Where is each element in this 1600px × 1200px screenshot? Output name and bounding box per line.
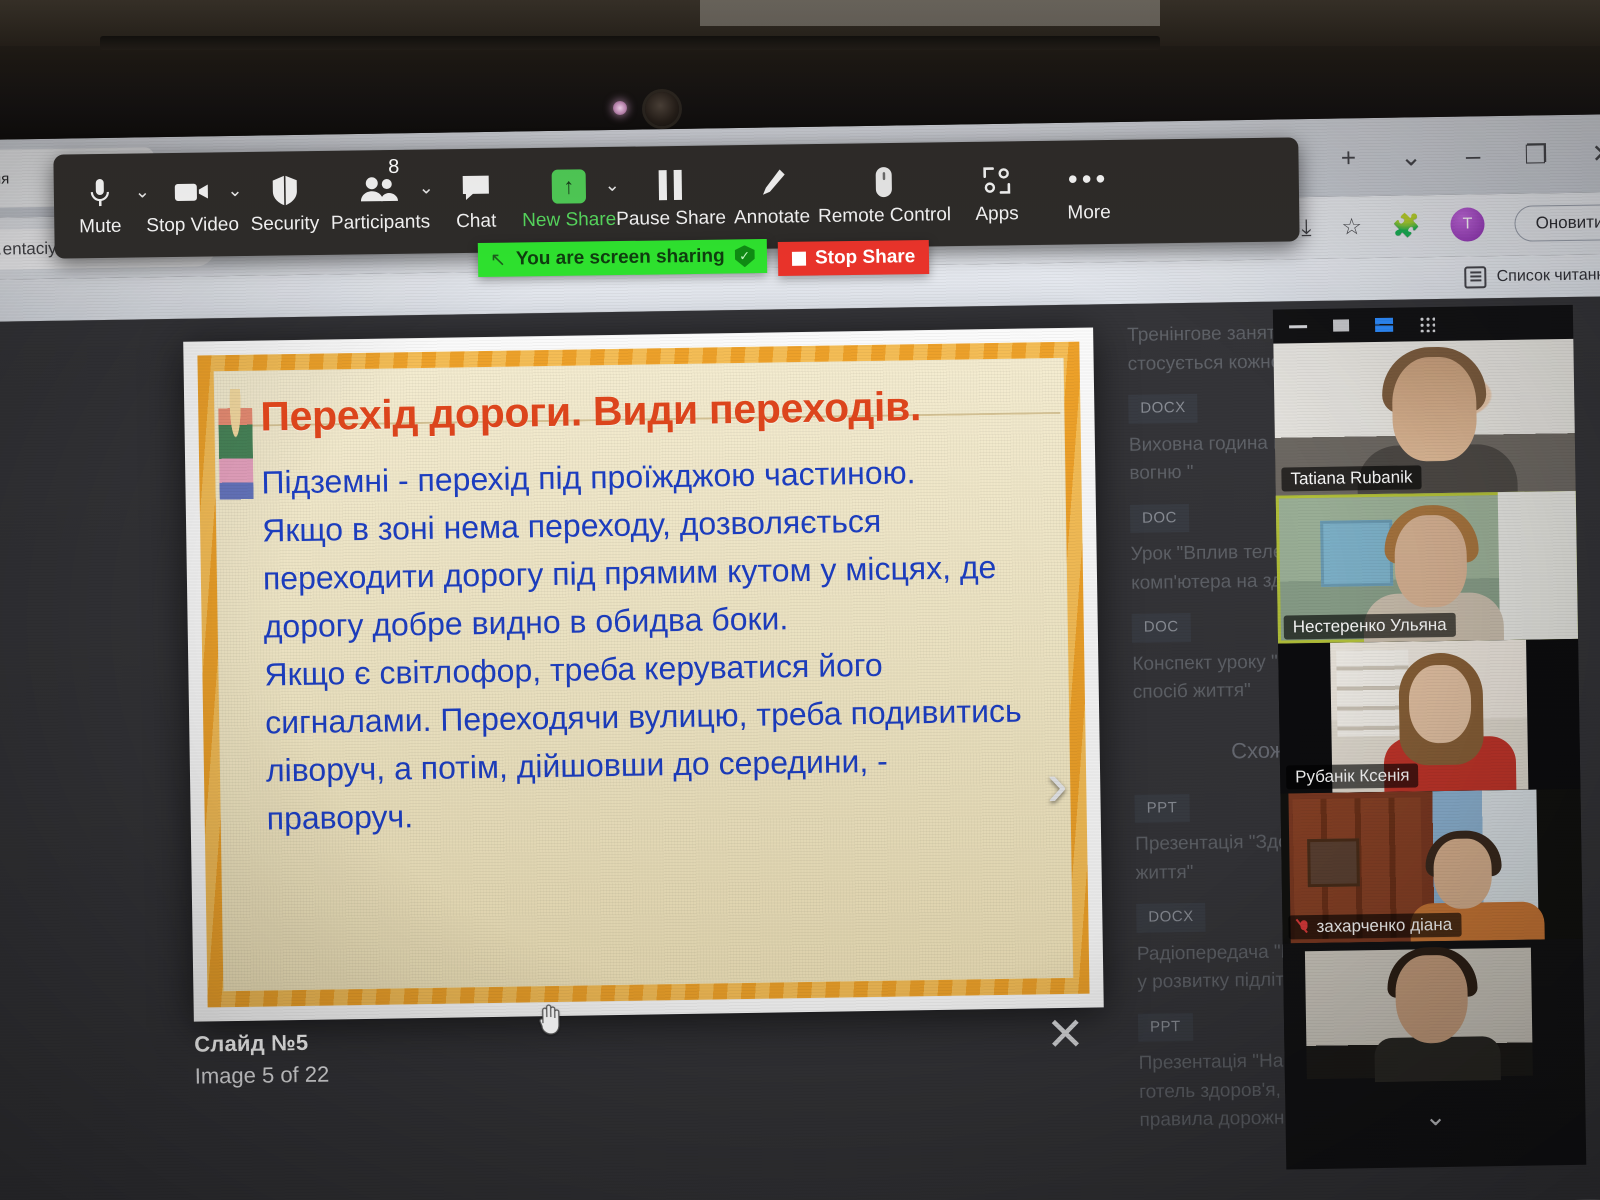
downloads-icon[interactable]: ⤓ [1301, 214, 1312, 241]
video-tile[interactable] [1283, 939, 1585, 1094]
stop-share-button[interactable]: Stop Share [778, 240, 930, 276]
participants-count-badge: 8 [388, 156, 399, 179]
zoom-toolbar-more-button[interactable]: •••More [1042, 140, 1135, 245]
file-type-badge: DOC [1130, 503, 1189, 532]
update-button[interactable]: Оновити [1514, 204, 1600, 242]
zoom-toolbar-participants-button[interactable]: 8Participants⌄ [330, 149, 431, 254]
zoom-toolbar-label: Pause Share [616, 207, 726, 231]
video-tile-name: Нестеренко Ульяна [1284, 613, 1456, 640]
slide-title: Перехід дороги. Види переходів. [260, 382, 1031, 440]
stop-square-icon [792, 252, 806, 266]
ellipsis-icon: ••• [1068, 170, 1110, 189]
filmstrip-scroll-down-icon[interactable]: ⌄ [1285, 1089, 1586, 1132]
zoom-toolbar-chat-button[interactable]: Chat [429, 148, 522, 253]
slide-body: Підземні - перехід під проїжджою частино… [261, 446, 1037, 842]
bezel-hinge [100, 36, 1160, 50]
browser-toolbar-actions: ⤓ ☆ 🧩 T Оновити [1301, 196, 1600, 253]
favorite-star-icon[interactable]: ☆ [1341, 213, 1362, 240]
file-type-badge: DOC [1132, 613, 1191, 642]
secure-shield-icon: ✓ [734, 245, 754, 267]
mouse-icon [872, 161, 897, 203]
zoom-toolbar-label: More [1067, 202, 1111, 225]
slide-caption-title: Слайд №5 [194, 1030, 329, 1058]
sharing-arrow-icon: ↖ [490, 248, 506, 271]
tab-list-chevron-down-icon[interactable]: ⌄ [1400, 143, 1422, 169]
next-slide-button[interactable]: › [1030, 758, 1085, 819]
girl-illustration-icon [218, 389, 254, 510]
camera-icon [173, 170, 212, 213]
shield-icon [269, 169, 300, 211]
mouse-cursor-hand-icon [536, 1003, 562, 1035]
video-tile-name: захарченко діана [1288, 913, 1461, 940]
laptop-photo: …для + ⌄ – ❐ ✕ …entaciy… ⤓ ☆ 🧩 T Оновити… [0, 0, 1600, 1200]
file-type-badge: PPT [1134, 793, 1189, 822]
video-tile[interactable]: Tatiana Rubanik [1273, 339, 1575, 496]
close-window-icon[interactable]: ✕ [1591, 140, 1600, 166]
zoom-toolbar-label: Chat [456, 211, 496, 234]
browser-tab-title: …для [0, 170, 9, 188]
profile-avatar[interactable]: T [1450, 207, 1485, 242]
pause-icon [659, 170, 682, 200]
microphone-icon [86, 172, 115, 214]
pause-icon [659, 164, 683, 206]
share-up-arrow-icon: ↑ [551, 165, 586, 207]
chat-bubble-icon [459, 167, 492, 209]
pencil-icon [756, 162, 787, 204]
new-tab-icon[interactable]: + [1341, 144, 1357, 170]
gallery-view-icon[interactable] [1419, 316, 1435, 332]
slide-canvas: Перехід дороги. Види переходів. Підземні… [214, 358, 1074, 991]
speaker-view-icon[interactable] [1375, 318, 1393, 332]
filmstrip-minimize-icon[interactable] [1289, 325, 1307, 328]
slide-caption: Слайд №5 Image 5 of 22 [194, 1030, 329, 1090]
video-tile[interactable]: Рубанік Ксенія [1278, 639, 1580, 794]
stop-share-label: Stop Share [815, 246, 916, 269]
zoom-toolbar-label: Apps [975, 203, 1019, 226]
zoom-toolbar-label: Stop Video [146, 214, 239, 237]
extensions-puzzle-icon[interactable]: 🧩 [1392, 212, 1421, 239]
reading-list-icon [1465, 266, 1487, 288]
zoom-toolbar-mute-button[interactable]: Mute⌄ [53, 153, 146, 258]
zoom-toolbar-security-button[interactable]: Security [238, 151, 331, 256]
screen-sharing-banner: ↖ You are screen sharing ✓ [478, 239, 767, 277]
zoom-toolbar-label: Remote Control [818, 204, 951, 228]
zoom-toolbar-label: Security [250, 213, 319, 236]
slide-caption-counter: Image 5 of 22 [195, 1062, 330, 1090]
video-filmstrip: Tatiana Rubanik Нестеренко Ульяна Рубані… [1273, 305, 1586, 1170]
zoom-toolbar-label: New Share [522, 209, 616, 232]
slide-viewer: Перехід дороги. Види переходів. Підземні… [183, 327, 1104, 1021]
apps-bracket-icon [980, 159, 1013, 201]
zoom-toolbar-annotate-button[interactable]: Annotate [725, 144, 818, 249]
maximize-icon[interactable]: ❐ [1524, 141, 1548, 167]
file-type-badge: DOCX [1136, 903, 1206, 933]
ellipsis-icon: ••• [1068, 158, 1110, 201]
zoom-toolbar-new-share-button[interactable]: ↑New Share⌄ [521, 147, 616, 252]
zoom-toolbar-stop-video-button[interactable]: Stop Video⌄ [145, 152, 239, 257]
zoom-toolbar-apps-button[interactable]: Apps [950, 141, 1043, 246]
video-tile-name: Рубанік Ксенія [1286, 763, 1419, 789]
video-tile-name-text: захарченко діана [1316, 915, 1452, 937]
slide-frame: Перехід дороги. Види переходів. Підземні… [197, 342, 1089, 1008]
bezel-reflection [700, 0, 1160, 26]
zoom-toolbar-pause-share-button[interactable]: Pause Share [615, 145, 726, 251]
sharing-banner-label: You are screen sharing [516, 246, 725, 271]
zoom-toolbar-label: Annotate [734, 206, 810, 229]
video-tile[interactable]: захарченко діана [1280, 789, 1582, 944]
video-tile-name: Tatiana Rubanik [1281, 465, 1421, 491]
filmstrip-controls [1273, 305, 1573, 344]
zoom-toolbar-remote-control-button[interactable]: Remote Control [817, 142, 952, 248]
close-lightbox-button[interactable]: ✕ [1046, 1011, 1085, 1058]
filmstrip-maximize-icon[interactable] [1333, 319, 1349, 331]
muted-microphone-icon [1297, 919, 1310, 936]
share-up-arrow-icon: ↑ [551, 169, 585, 203]
laptop-screen: …для + ⌄ – ❐ ✕ …entaciy… ⤓ ☆ 🧩 T Оновити… [0, 114, 1600, 1200]
slide-paragraph: Якщо в зоні нема переходу, дозволяється … [262, 494, 1034, 650]
file-type-badge: DOCX [1128, 394, 1198, 424]
reading-list-label[interactable]: Список читанн… [1497, 266, 1600, 286]
webcam-lens-icon [645, 92, 679, 126]
zoom-toolbar-label: Mute [79, 216, 122, 239]
minimize-icon[interactable]: – [1466, 142, 1481, 168]
zoom-toolbar-label: Participants [331, 211, 431, 234]
webcam-indicator-led-icon [613, 101, 627, 115]
slide-paragraph: Якщо є світлофор, треба керуватися його … [264, 638, 1037, 842]
video-tile[interactable]: Нестеренко Ульяна [1276, 491, 1578, 644]
file-type-badge: PPT [1138, 1012, 1193, 1041]
